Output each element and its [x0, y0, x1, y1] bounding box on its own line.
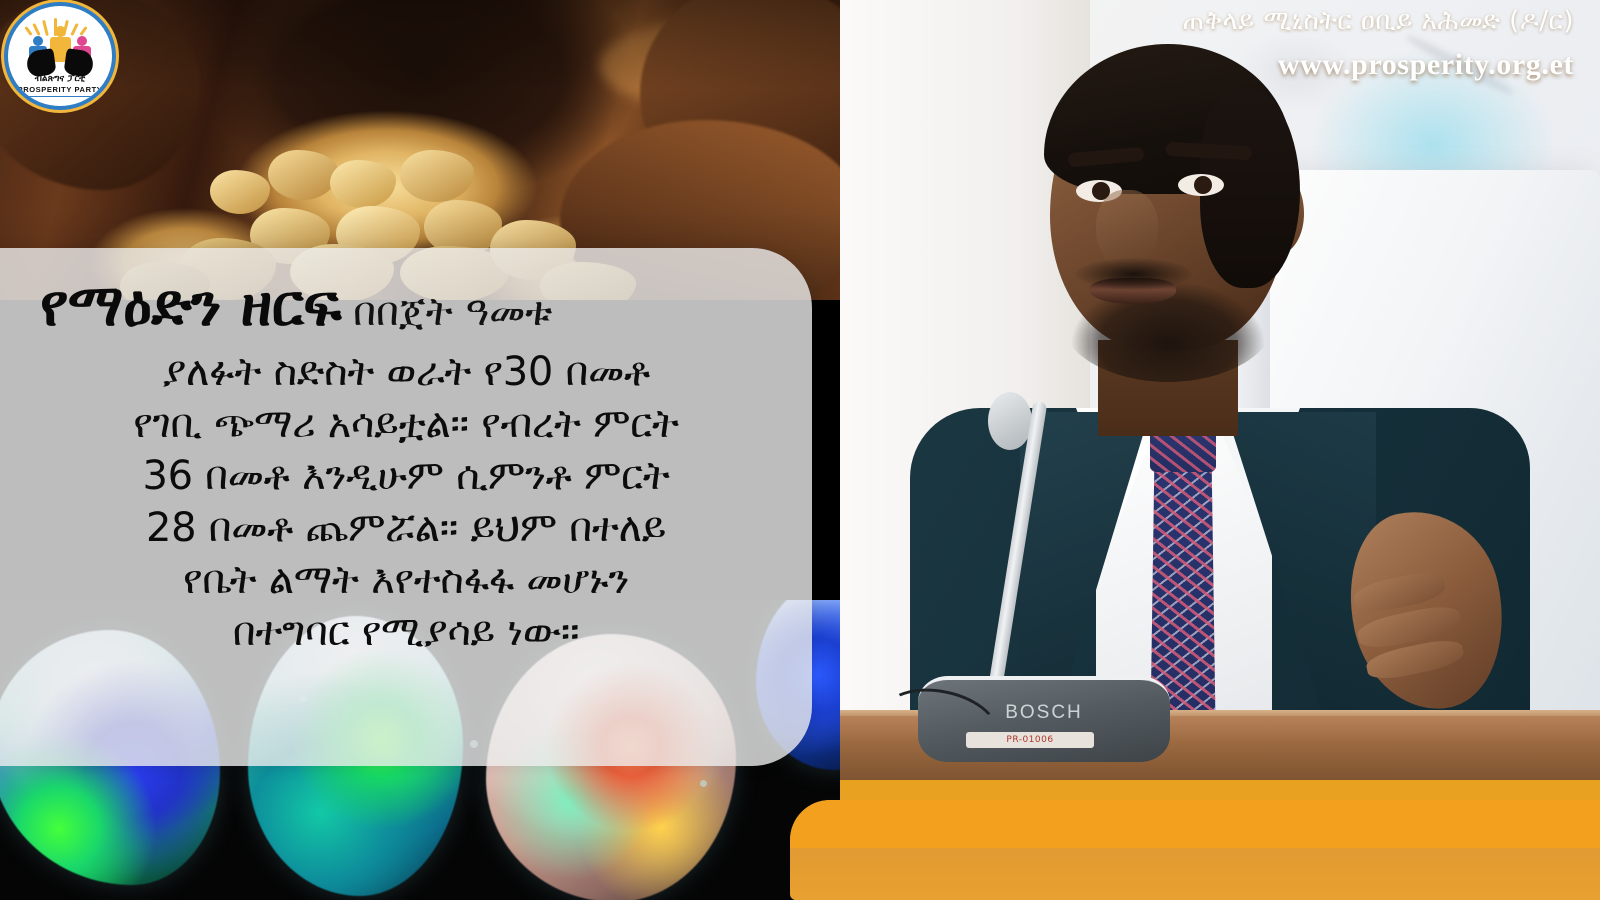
logo-name-english: PROSPERITY PARTY: [8, 85, 112, 94]
body-line: የገቢ ጭማሪ አሳይቷል፡፡ የብረት ምርት: [34, 398, 778, 450]
cupped-hands-icon: [27, 50, 93, 76]
caption-fade: [790, 848, 1600, 900]
statement-panel: የማዕድን ዘርፍበበጀት ዓመቱ ያለፉት ስድስት ወራት የ30 በመቶ …: [0, 248, 812, 766]
website-url[interactable]: www.prosperity.org.et: [1278, 48, 1574, 82]
body-line: በተግባር የሚያሳይ ነው፡፡: [34, 606, 778, 658]
eye-right: [1178, 174, 1224, 196]
body-line: 28 በመቶ ጨምሯል፡፡ ይህም በተለይ: [34, 502, 778, 554]
caption-strip: [790, 800, 1600, 848]
speaker-photo: BOSCH PR-01006: [840, 0, 1600, 900]
logo-name-amharic: ብልጽግና ፓርቲ: [8, 74, 112, 84]
panel-body: ያለፉት ስድስት ወራት የ30 በመቶ የገቢ ጭማሪ አሳይቷል፡፡ የብ…: [34, 340, 778, 658]
body-line: 36 በመቶ እንዲሁም ሲምንቶ ምርት: [34, 450, 778, 502]
logo-divider: [22, 96, 98, 97]
body-line: የቤት ልማት እየተስፋፋ መሆኑን: [34, 554, 778, 606]
mustache: [1076, 258, 1192, 290]
headline-sub: በበጀት ዓመቱ: [353, 289, 552, 335]
headline-strong: የማዕድን ዘርፍ: [40, 271, 341, 339]
body-line: ያለፉት ስድስት ወራት የ30 በመቶ: [34, 346, 778, 398]
panel-headline: የማዕድን ዘርፍበበጀት ዓመቱ: [34, 276, 778, 340]
prosperity-party-logo[interactable]: ብልጽግና ፓርቲ PROSPERITY PARTY: [8, 6, 112, 106]
caption-banner: [790, 800, 1600, 900]
microphone-head: [988, 392, 1032, 450]
infographic-canvas: BOSCH PR-01006 ጠቅላይ ሚኒስትር ዐቢይ አሕመድ (ዶ/ር)…: [0, 0, 1600, 900]
speaker-caption: ጠቅላይ ሚኒስትር ዐቢይ አሕመድ (ዶ/ር): [1183, 6, 1574, 37]
